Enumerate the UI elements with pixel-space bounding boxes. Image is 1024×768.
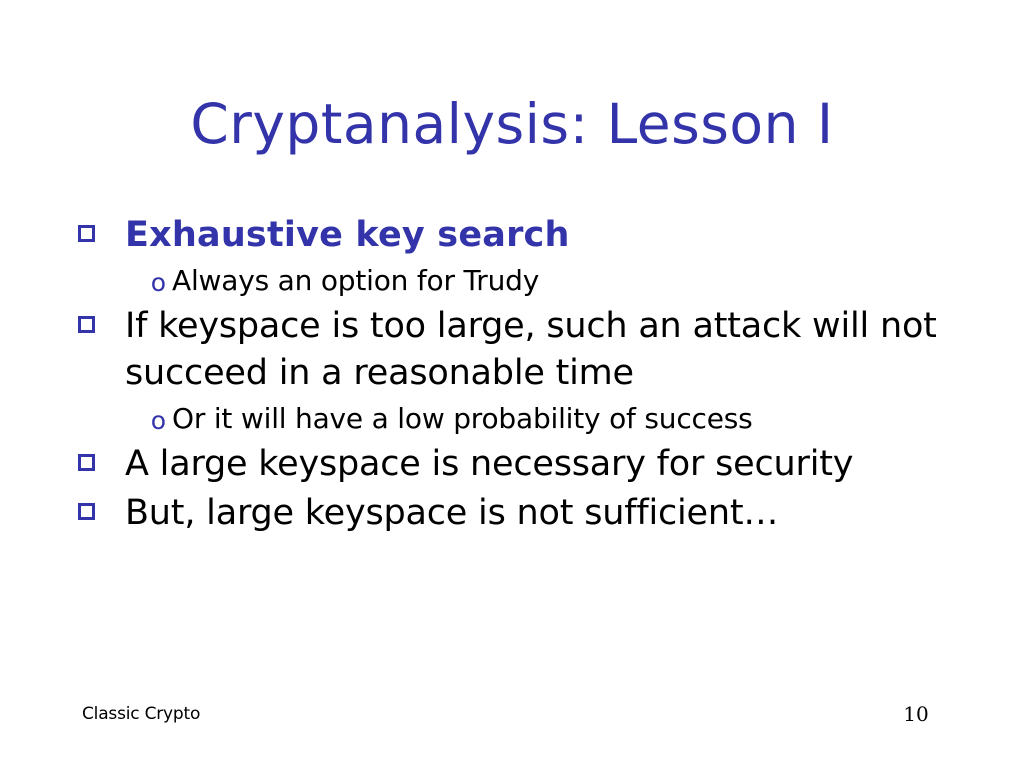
list-item-label: But, large keyspace is not sufficient… (125, 490, 968, 537)
list-item: A large keyspace is necessary for securi… (78, 441, 968, 488)
list-item-label: If keyspace is too large, such an attack… (125, 303, 968, 397)
slide-body-list: Exhaustive key search o Always an option… (78, 212, 968, 539)
square-bullet-icon (78, 303, 125, 337)
page-title: Cryptanalysis: Lesson I (0, 92, 1024, 156)
list-item: If keyspace is too large, such an attack… (78, 303, 968, 397)
square-bullet-icon (78, 441, 125, 475)
square-bullet-icon (78, 490, 125, 524)
circle-o-bullet-icon: o (78, 399, 172, 433)
circle-o-bullet-glyph: o (151, 270, 166, 295)
circle-o-bullet-icon: o (78, 261, 172, 295)
list-item-label: Or it will have a low probability of suc… (172, 399, 968, 439)
list-item-label: A large keyspace is necessary for securi… (125, 441, 968, 488)
list-item: o Or it will have a low probability of s… (78, 399, 968, 439)
slide-canvas: Cryptanalysis: Lesson I Exhaustive key s… (0, 0, 1024, 768)
square-bullet-icon (78, 212, 125, 246)
slide-page-number: 10 (896, 702, 936, 726)
circle-o-bullet-glyph: o (151, 408, 166, 433)
list-item: Exhaustive key search (78, 212, 968, 259)
list-item-label: Exhaustive key search (125, 212, 968, 259)
footer-left-label: Classic Crypto (82, 703, 200, 725)
list-item: o Always an option for Trudy (78, 261, 968, 301)
list-item: But, large keyspace is not sufficient… (78, 490, 968, 537)
list-item-label: Always an option for Trudy (172, 261, 968, 301)
